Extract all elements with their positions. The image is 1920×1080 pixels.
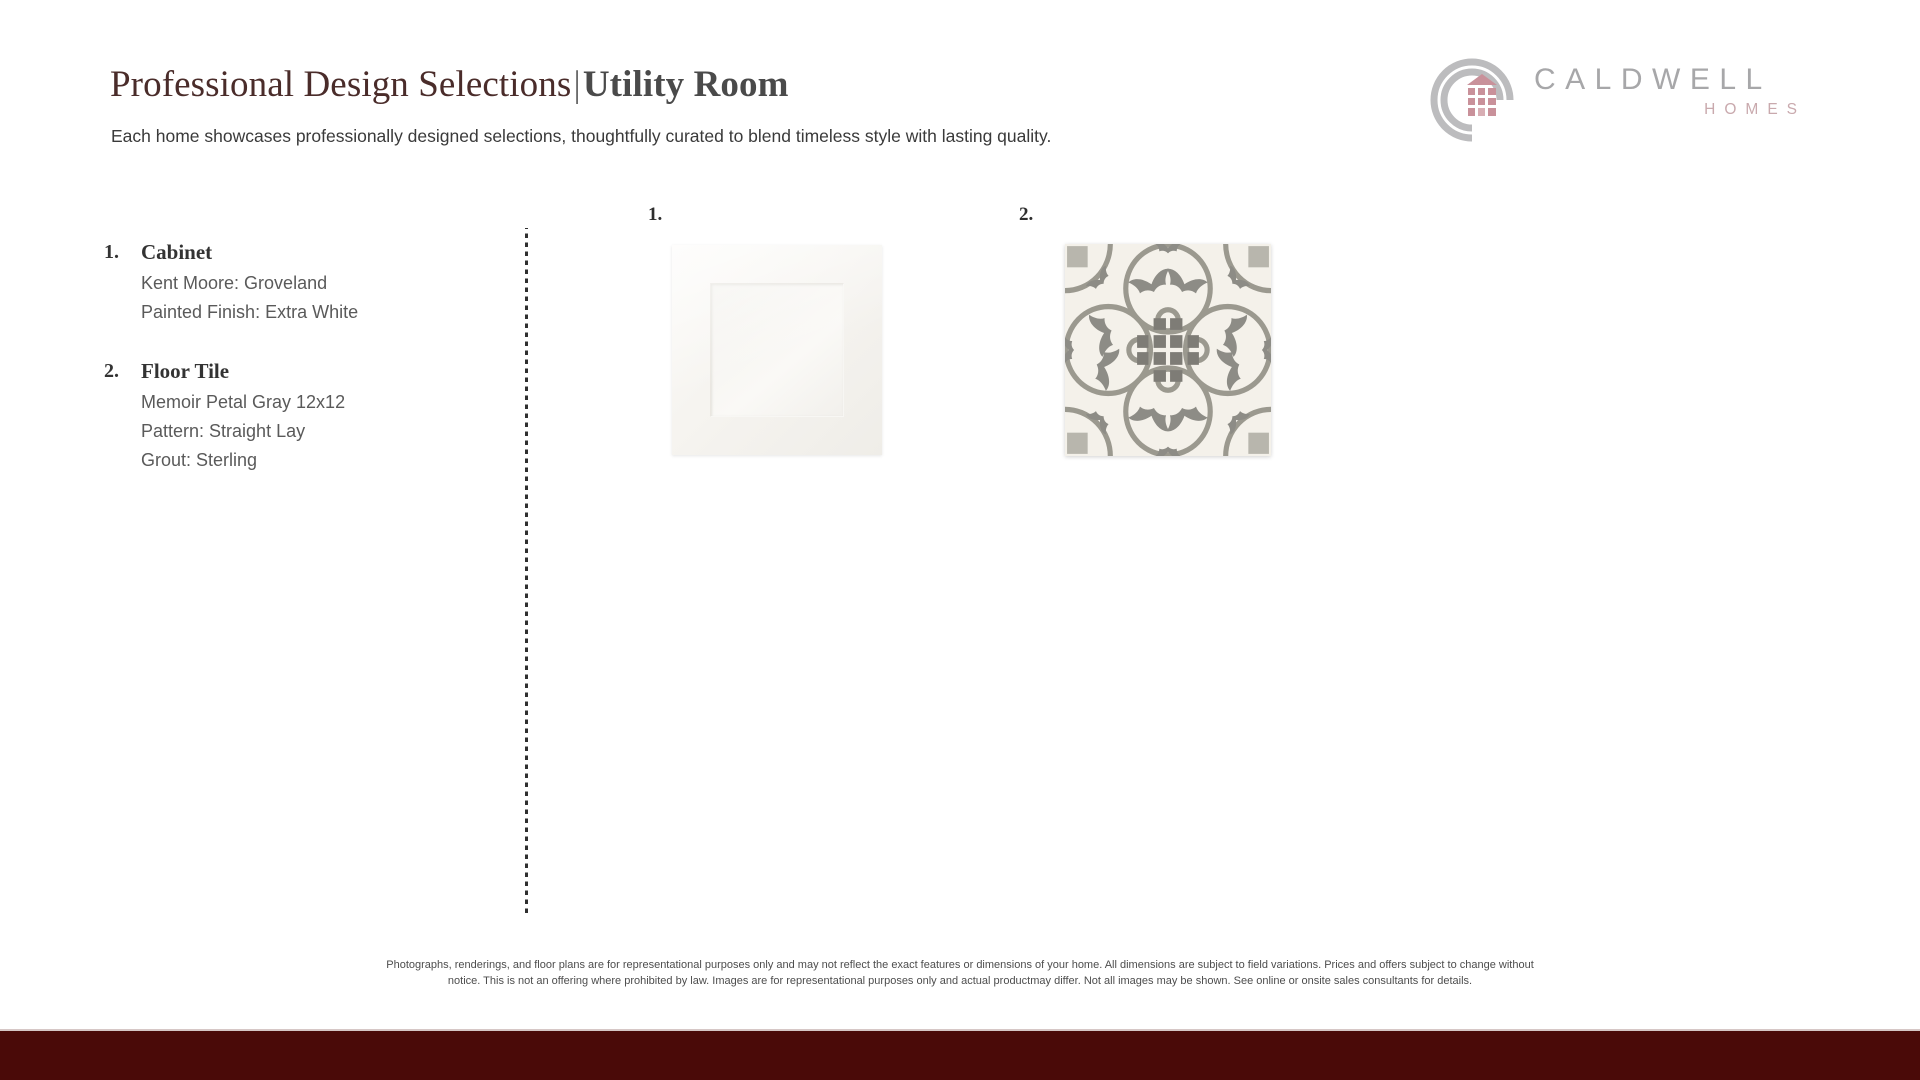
page-title-separator: |: [571, 64, 583, 105]
selection-number: 1.: [104, 238, 136, 266]
selections-list: 1. Cabinet Kent Moore: Groveland Painted…: [104, 238, 504, 475]
selection-title: Floor Tile: [141, 357, 504, 385]
footer-disclaimer-line-1: Photographs, renderings, and floor plans…: [0, 957, 1920, 973]
cabinet-center-panel: [710, 283, 844, 417]
logo-sub-text: HOMES: [1534, 100, 1814, 120]
page-title-main: Professional Design Selections: [110, 64, 571, 105]
caldwell-homes-logo: CALDWELL HOMES: [1424, 52, 1814, 148]
selection-number: 2.: [104, 357, 136, 385]
design-selections-page: Professional Design Selections|Utility R…: [0, 0, 1920, 1080]
selection-detail: Memoir Petal Gray 12x12: [141, 388, 504, 417]
page-title: Professional Design Selections|Utility R…: [110, 63, 789, 107]
list-item: 2. Floor Tile Memoir Petal Gray 12x12 Pa…: [104, 357, 504, 475]
selection-body: Cabinet Kent Moore: Groveland Painted Fi…: [141, 238, 504, 327]
swatch-label-1: 1.: [648, 204, 662, 226]
logo-brand-text: CALDWELL: [1534, 62, 1814, 98]
floor-tile-swatch: [1065, 244, 1271, 456]
selection-detail: Grout: Sterling: [141, 446, 504, 475]
cabinet-door-swatch: [672, 245, 882, 455]
selection-detail: Pattern: Straight Lay: [141, 417, 504, 446]
footer-disclaimer-line-2: notice. This is not an offering where pr…: [0, 973, 1920, 989]
selection-title: Cabinet: [141, 238, 504, 266]
page-subtitle: Each home showcases professionally desig…: [111, 124, 1051, 148]
footer-disclaimer: Photographs, renderings, and floor plans…: [0, 957, 1920, 989]
selection-detail: Kent Moore: Groveland: [141, 269, 504, 298]
vertical-dotted-divider: [525, 228, 528, 914]
circle-house-logo-icon: [1424, 52, 1520, 148]
selection-body: Floor Tile Memoir Petal Gray 12x12 Patte…: [141, 357, 504, 475]
swatch-label-2: 2.: [1019, 204, 1033, 226]
footer-accent-bar: [0, 1031, 1920, 1080]
list-item: 1. Cabinet Kent Moore: Groveland Painted…: [104, 238, 504, 327]
selection-detail: Painted Finish: Extra White: [141, 298, 504, 327]
page-title-room: Utility Room: [583, 64, 789, 105]
logo-wordmark: CALDWELL HOMES: [1534, 62, 1814, 120]
